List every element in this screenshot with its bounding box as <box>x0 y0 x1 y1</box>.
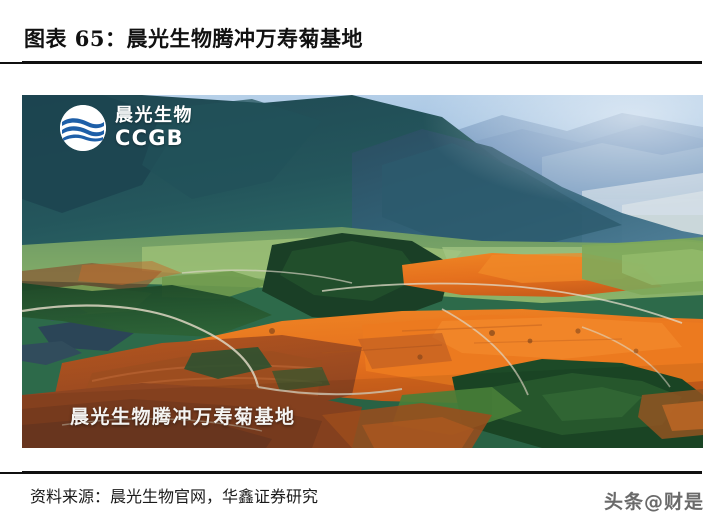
source-note: 资料来源：晨光生物官网，华鑫证券研究 <box>30 483 318 507</box>
source-divider-rule <box>22 471 702 474</box>
photo-caption-overlay: 晨光生物腾冲万寿菊基地 <box>70 402 296 429</box>
report-figure-page: 图表 65：晨光生物腾冲万寿菊基地 <box>0 0 724 532</box>
ccgb-logo: 晨光生物 CCGB <box>60 105 193 151</box>
ccgb-wave-emblem-icon <box>60 105 106 151</box>
ccgb-logo-english: CCGB <box>115 128 193 149</box>
source-rule-left-tick <box>0 472 22 474</box>
page-title: 图表 65：晨光生物腾冲万寿菊基地 <box>24 23 363 53</box>
ccgb-logo-chinese: 晨光生物 <box>115 107 193 125</box>
ccgb-logo-text: 晨光生物 CCGB <box>115 107 193 149</box>
figure-photo: 晨光生物 CCGB 晨光生物腾冲万寿菊基地 <box>22 95 703 448</box>
title-divider-rule <box>22 61 702 64</box>
title-rule-left-tick <box>0 62 22 64</box>
watermark: 头条@财是 <box>604 487 704 514</box>
